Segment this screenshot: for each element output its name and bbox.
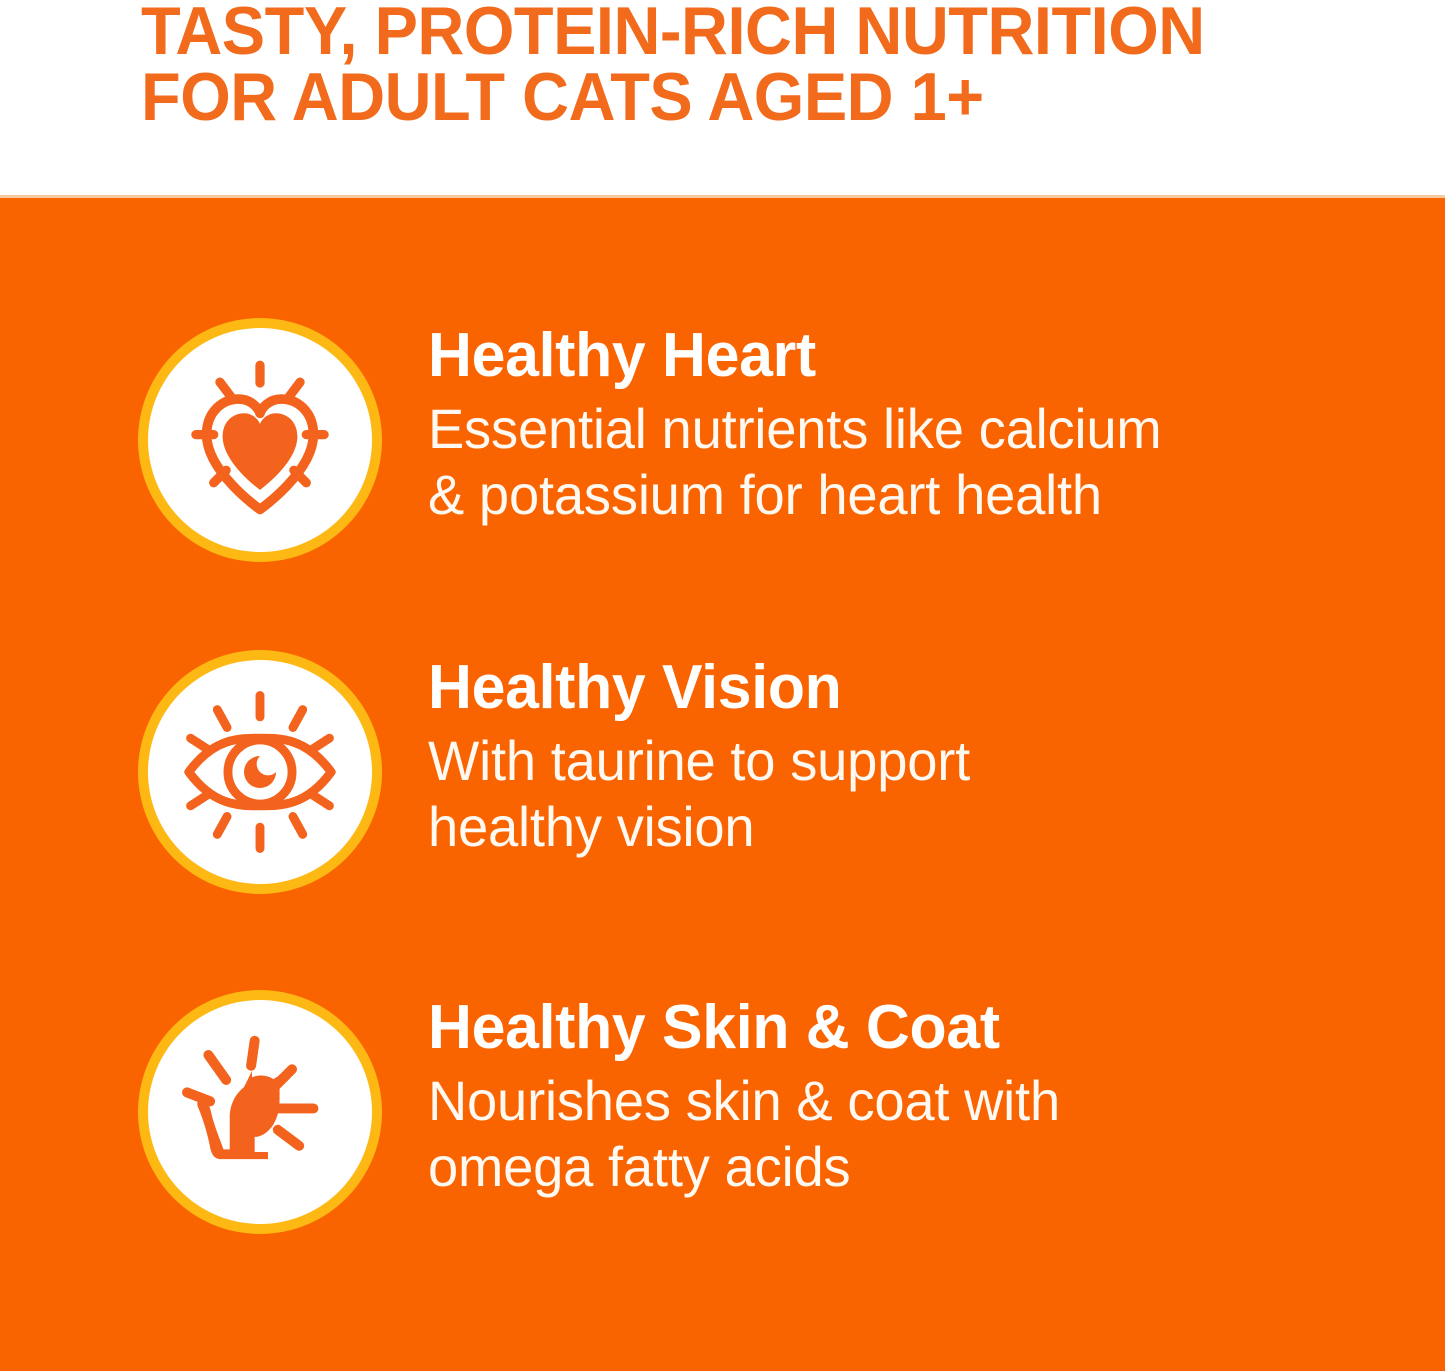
feature-text-block: Healthy Heart Essential nutrients like c…: [428, 322, 1378, 528]
cat-rays-icon: [171, 1023, 349, 1201]
headline: TASTY, PROTEIN-RICH NUTRITION FOR ADULT …: [141, 0, 1344, 130]
feature-icon-badge: [138, 650, 382, 894]
header-band: TASTY, PROTEIN-RICH NUTRITION FOR ADULT …: [0, 0, 1445, 198]
feature-description: With taurine to support healthy vision: [428, 728, 1350, 860]
feature-description: Essential nutrients like calcium & potas…: [428, 396, 1350, 528]
feature-title: Healthy Vision: [428, 654, 1359, 722]
feature-icon-badge: [138, 318, 382, 562]
product-feature-graphic: TASTY, PROTEIN-RICH NUTRITION FOR ADULT …: [0, 0, 1445, 1371]
feature-title: Healthy Skin & Coat: [428, 994, 1359, 1062]
features-panel: Healthy Heart Essential nutrients like c…: [0, 198, 1445, 1371]
feature-text-block: Healthy Vision With taurine to support h…: [428, 654, 1378, 860]
feature-text-block: Healthy Skin & Coat Nourishes skin & coa…: [428, 994, 1378, 1200]
feature-title: Healthy Heart: [428, 322, 1359, 390]
feature-description: Nourishes skin & coat with omega fatty a…: [428, 1068, 1350, 1200]
heart-rays-icon: [171, 351, 349, 529]
feature-icon-badge: [138, 990, 382, 1234]
eye-rays-icon: [171, 683, 349, 861]
